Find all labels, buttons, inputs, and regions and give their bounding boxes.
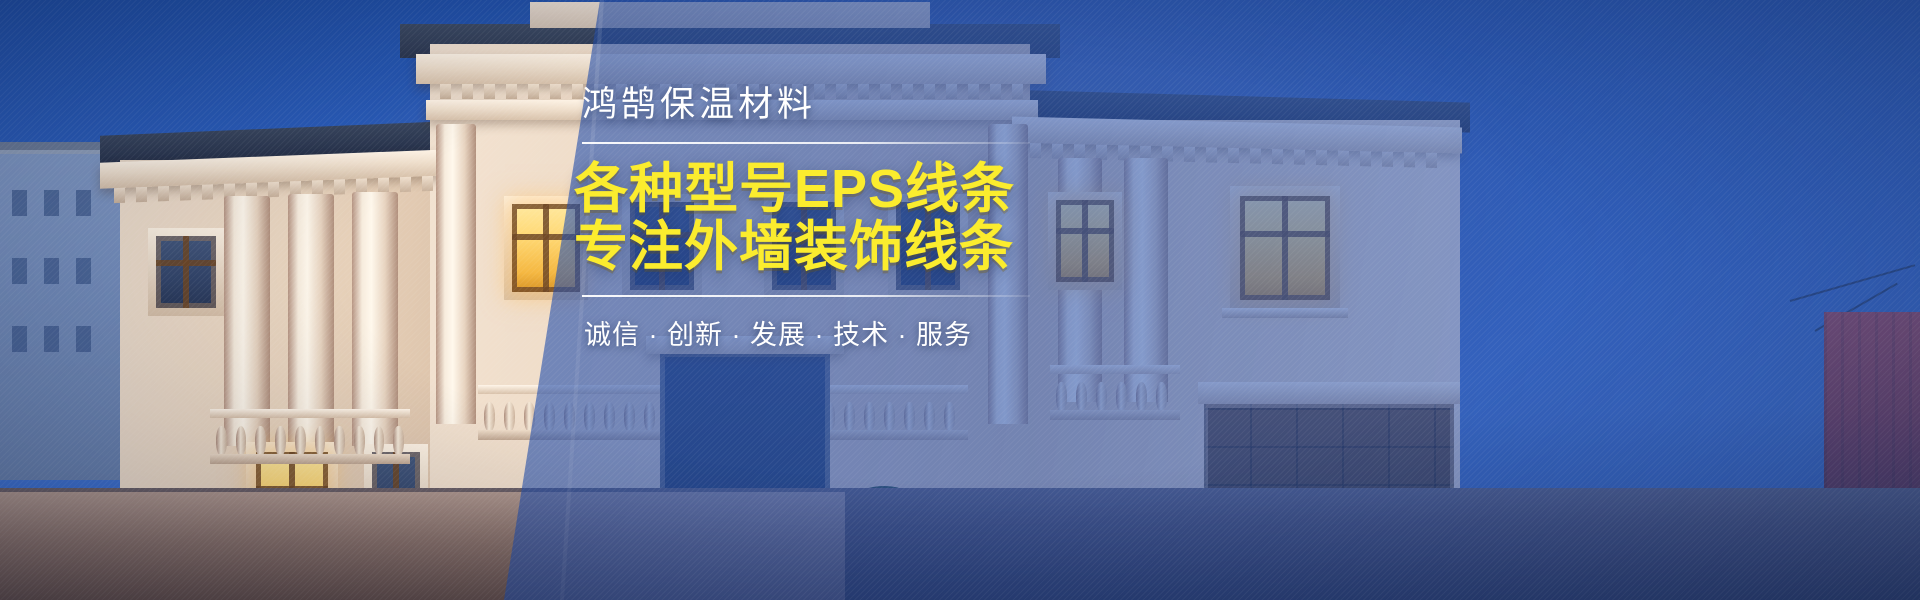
tagline: 诚信 · 创新 · 发展 · 技术 · 服务: [560, 313, 1030, 352]
headline-line-1: 各种型号EPS线条: [560, 160, 1030, 219]
promotional-banner: 鸿鹄保温材料 各种型号EPS线条 专注外墙装饰线条 诚信 · 创新 · 发展 ·…: [0, 0, 1920, 600]
window: [156, 236, 216, 308]
column: [352, 192, 398, 446]
divider-bottom: [582, 295, 1030, 297]
banner-text-block: 鸿鹄保温材料 各种型号EPS线条 专注外墙装饰线条 诚信 · 创新 · 发展 ·…: [560, 86, 1030, 352]
balustrade: [210, 416, 410, 456]
brand-name: 鸿鹄保温材料: [560, 86, 1030, 125]
column: [436, 124, 476, 424]
divider-top: [582, 142, 1030, 144]
headline-line-2: 专注外墙装饰线条: [560, 218, 1030, 277]
